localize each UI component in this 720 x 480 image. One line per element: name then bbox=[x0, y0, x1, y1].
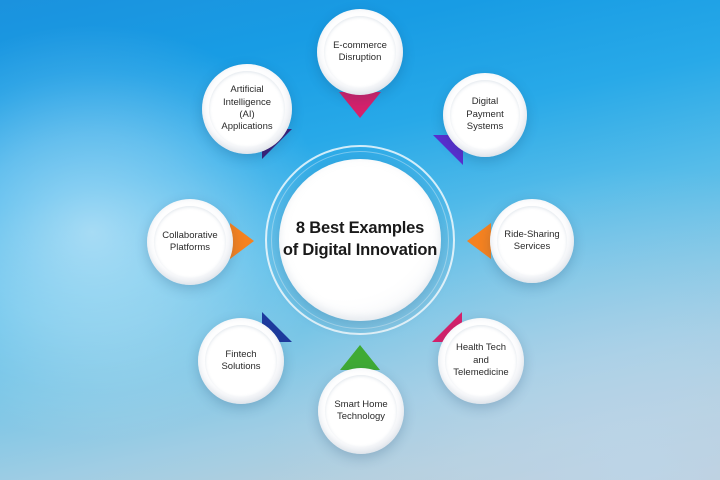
node-health-tech-and-telemedicine[interactable]: Health Tech and Telemedicine bbox=[438, 318, 524, 404]
node-artificial-intelligence-ai-applications[interactable]: Artificial Intelligence (AI) Application… bbox=[202, 64, 292, 154]
infographic-canvas: 8 Best Examples of Digital Innovation E-… bbox=[0, 0, 720, 480]
node-inner-ring bbox=[209, 71, 285, 147]
node-inner-ring bbox=[445, 325, 517, 397]
pointer-ride-sharing-services bbox=[467, 223, 491, 259]
node-inner-ring bbox=[450, 80, 520, 150]
node-inner-ring bbox=[154, 206, 226, 278]
node-fintech-solutions[interactable]: Fintech Solutions bbox=[198, 318, 284, 404]
pointer-smart-home-technology bbox=[340, 345, 380, 370]
node-smart-home-technology[interactable]: Smart Home Technology bbox=[318, 368, 404, 454]
node-inner-ring bbox=[497, 206, 567, 276]
node-digital-payment-systems[interactable]: Digital Payment Systems bbox=[443, 73, 527, 157]
node-collaborative-platforms[interactable]: Collaborative Platforms bbox=[147, 199, 233, 285]
node-e-commerce-disruption[interactable]: E-commerce Disruption bbox=[317, 9, 403, 95]
pointer-e-commerce-disruption bbox=[339, 92, 381, 118]
node-inner-ring bbox=[205, 325, 277, 397]
node-inner-ring bbox=[324, 16, 396, 88]
node-inner-ring bbox=[325, 375, 397, 447]
center-hub-disc bbox=[279, 159, 441, 321]
pointer-collaborative-platforms bbox=[230, 223, 254, 259]
node-ride-sharing-services[interactable]: Ride-Sharing Services bbox=[490, 199, 574, 283]
